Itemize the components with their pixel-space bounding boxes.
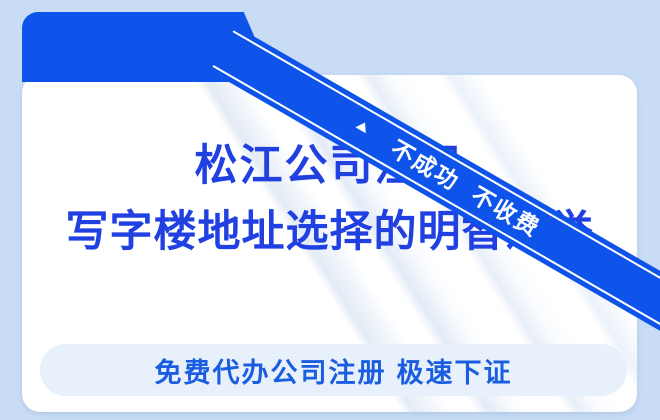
ribbon-text-gap bbox=[454, 191, 470, 200]
cta-label: 免费代办公司注册极速下证 bbox=[155, 351, 513, 390]
triangle-up-icon bbox=[355, 119, 370, 133]
cta-text-part-1: 免费代办公司注册 bbox=[155, 358, 387, 388]
cta-pill[interactable]: 免费代办公司注册极速下证 bbox=[40, 344, 627, 396]
headline-line-1: 松江公司注册 bbox=[22, 137, 637, 195]
cta-text-part-2: 极速下证 bbox=[397, 358, 513, 388]
promo-banner: 松江公司注册 写字楼地址选择的明智之举 免费代办公司注册极速下证 上海壹隆 不成… bbox=[0, 0, 660, 420]
